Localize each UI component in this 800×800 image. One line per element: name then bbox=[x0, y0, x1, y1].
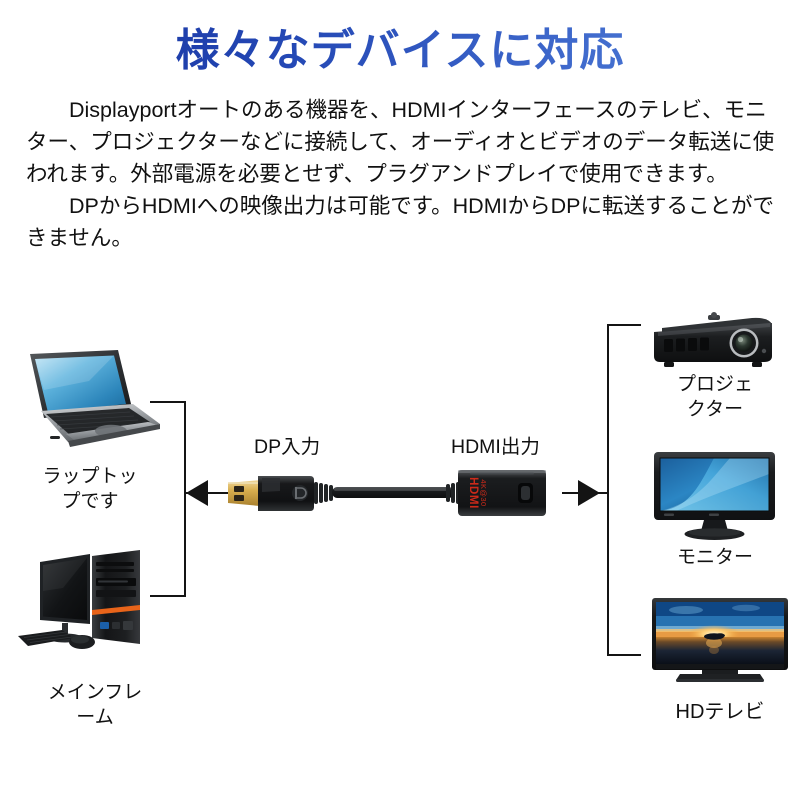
arrow-left-icon bbox=[186, 480, 208, 506]
bracket-left-bottom-stub bbox=[150, 595, 186, 597]
device-label-laptop: ラップトッ プです bbox=[20, 464, 160, 514]
device-monitor bbox=[652, 450, 777, 542]
hdtv-icon bbox=[650, 596, 790, 688]
connection-diagram: ラップトッ プです bbox=[0, 0, 800, 800]
arrow-right-icon bbox=[578, 480, 600, 506]
adapter-cable-icon: HDMI 4K@30 bbox=[222, 462, 552, 524]
device-label-projector: プロジェ クター bbox=[650, 372, 780, 422]
hdmi-port-text: HDMI bbox=[467, 477, 479, 509]
device-label-hdtv: HDテレビ bbox=[650, 700, 790, 725]
device-label-mainframe: メインフレ ーム bbox=[20, 680, 170, 730]
desktop-computer-icon bbox=[18, 548, 173, 658]
device-hdtv bbox=[650, 596, 790, 688]
hdmi-port-subtext: 4K@30 bbox=[479, 479, 488, 506]
projector-icon bbox=[648, 312, 778, 374]
device-laptop bbox=[14, 348, 164, 453]
dp-to-hdmi-adapter: HDMI 4K@30 bbox=[222, 462, 552, 524]
device-label-monitor: モニター bbox=[650, 545, 780, 570]
bracket-right-vertical bbox=[607, 324, 609, 656]
bracket-left-top-stub bbox=[150, 401, 186, 403]
device-projector bbox=[648, 312, 778, 374]
monitor-icon bbox=[652, 450, 777, 542]
bracket-right-bottom-stub bbox=[607, 654, 641, 656]
device-mainframe bbox=[18, 548, 173, 658]
label-dp-input: DP入力 bbox=[254, 430, 320, 459]
label-hdmi-output: HDMI出力 bbox=[451, 430, 540, 459]
laptop-icon bbox=[14, 348, 164, 453]
bracket-right-top-stub bbox=[607, 324, 641, 326]
